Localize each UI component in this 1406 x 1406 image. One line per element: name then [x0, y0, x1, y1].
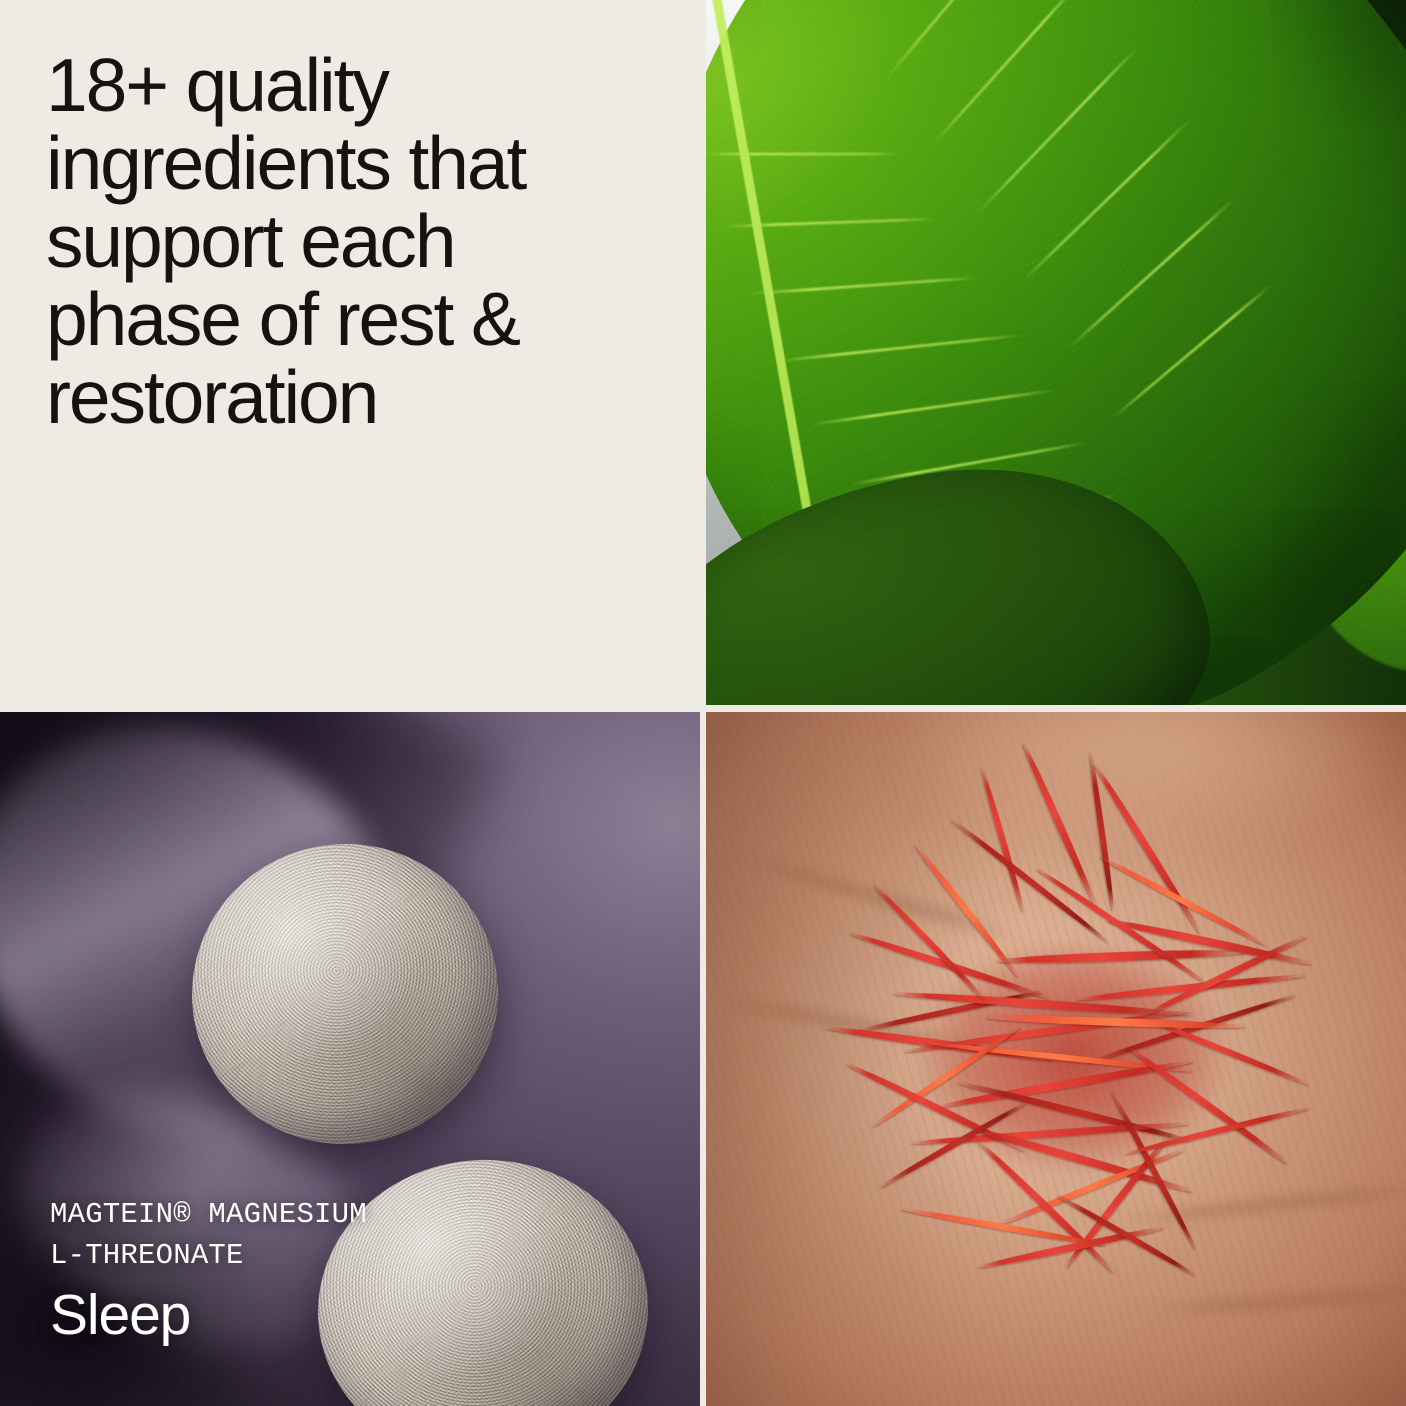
headline-card: 18+ quality ingredients that support eac… — [0, 0, 700, 705]
ashwagandha-leaf-photo — [706, 0, 1406, 705]
page-title: 18+ quality ingredients that support eac… — [46, 46, 636, 436]
ingredient-card-saffron[interactable]: SAFFRON Morning — [706, 712, 1406, 1406]
ingredients-grid: 18+ quality ingredients that support eac… — [0, 0, 1406, 1406]
ingredient-phase-label: Sleep — [50, 1282, 367, 1348]
magnesium-caption: MAGTEIN® MAGNESIUM L-THREONATE Sleep — [50, 1194, 367, 1348]
saffron-thread-pile — [836, 812, 1306, 1282]
ingredient-card-ashwagandha[interactable]: ASHWAGANDHA Evening / Pre- Sleep — [706, 0, 1406, 705]
ingredient-name-label: MAGTEIN® MAGNESIUM L-THREONATE — [50, 1194, 367, 1276]
saffron-palm-photo — [706, 712, 1406, 1406]
ingredient-card-magnesium[interactable]: MAGTEIN® MAGNESIUM L-THREONATE Sleep — [0, 712, 700, 1406]
photo-texture-overlay — [706, 0, 1406, 705]
